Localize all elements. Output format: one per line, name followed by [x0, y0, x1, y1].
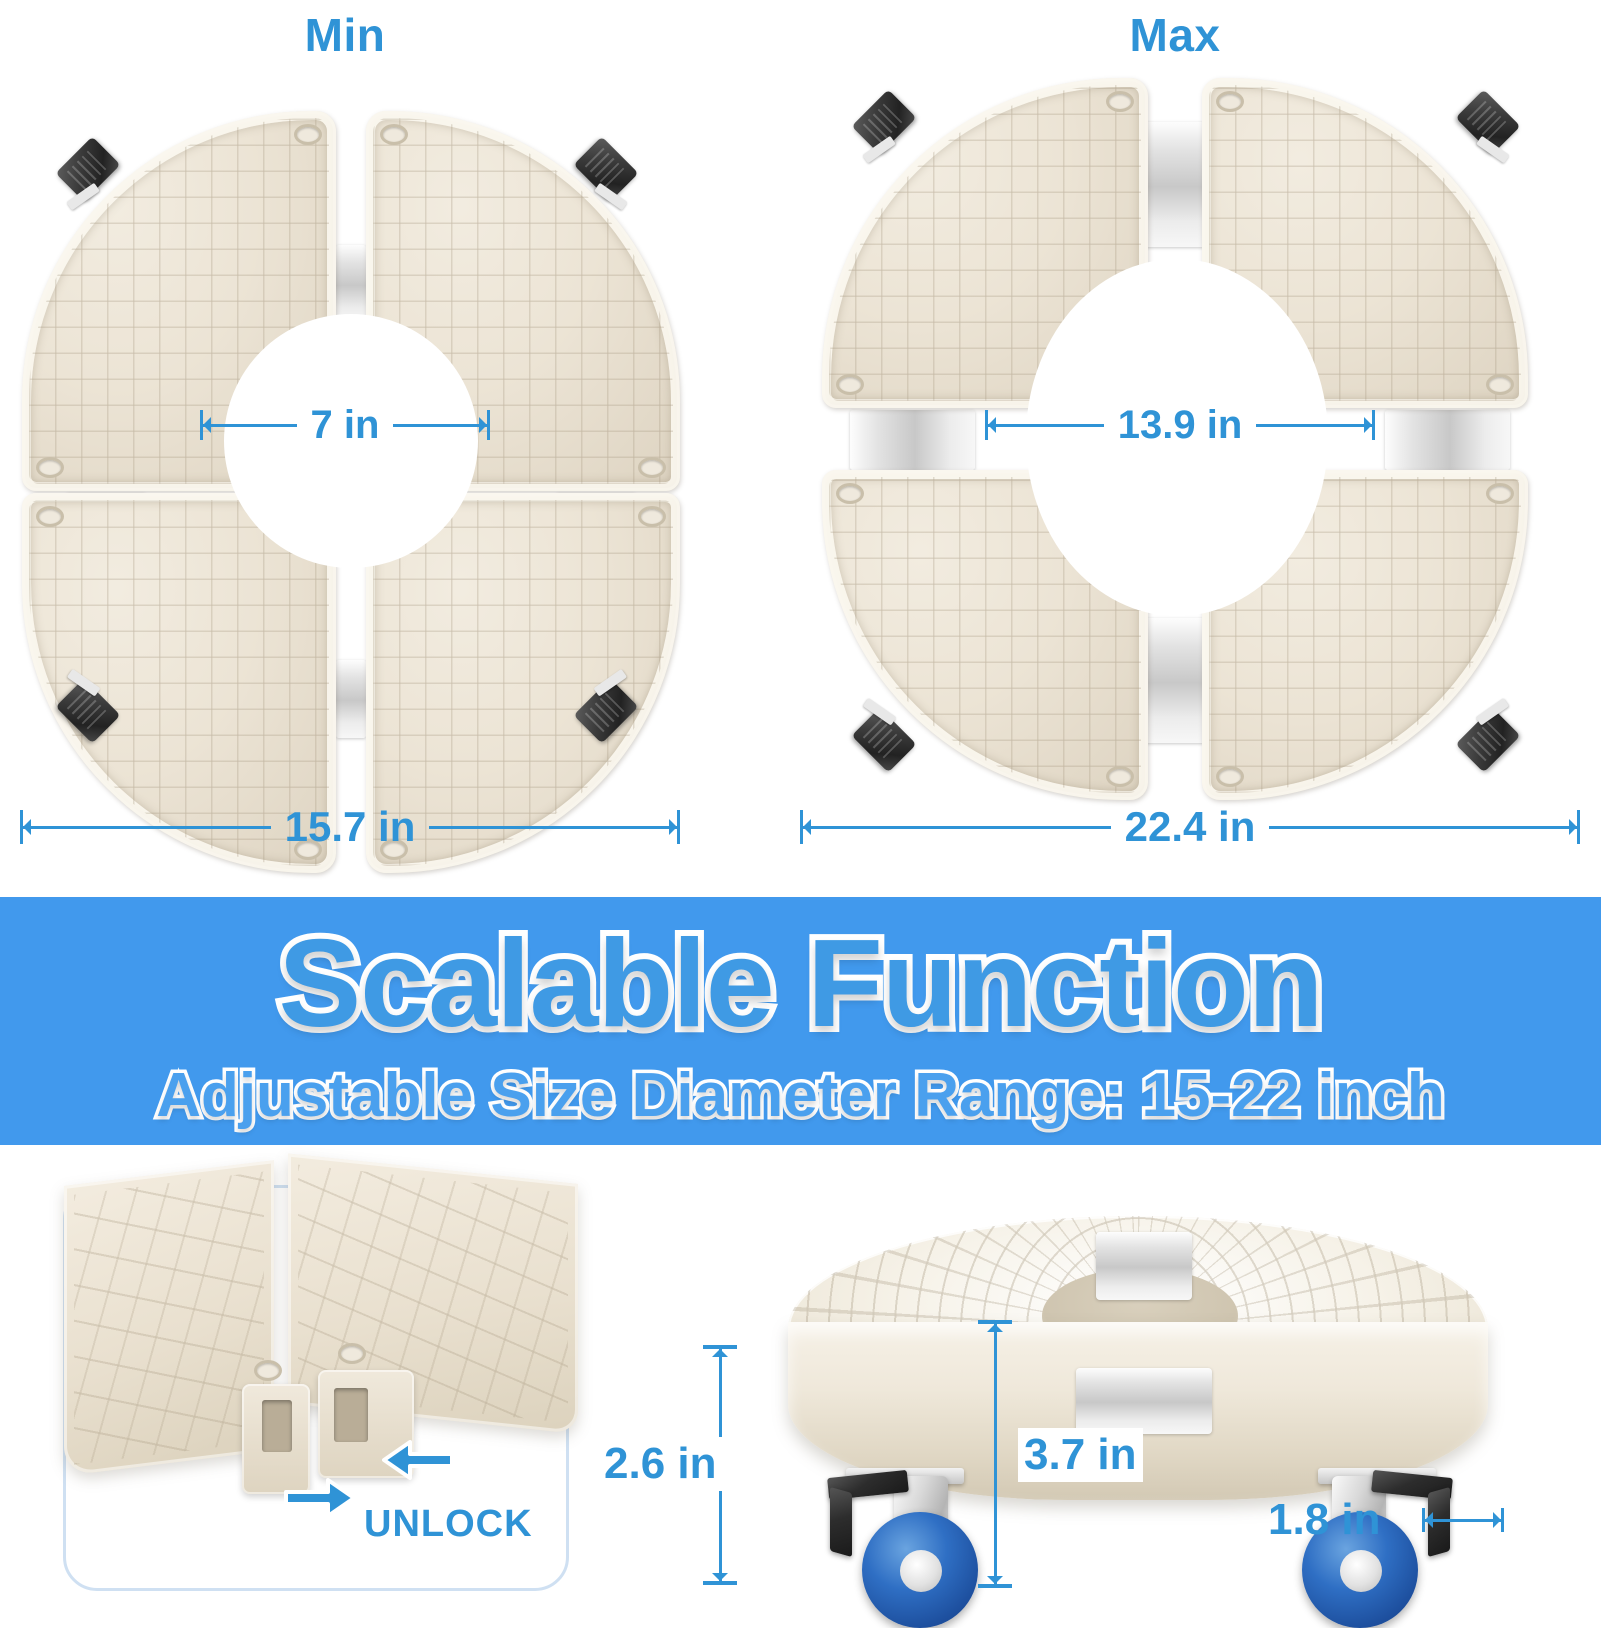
eyelet	[836, 483, 864, 504]
max-inner-dimension-label: 13.9 in	[1104, 405, 1257, 445]
eyelet	[380, 124, 408, 145]
connector-bar-lower	[1076, 1368, 1212, 1434]
eyelet	[36, 457, 64, 478]
total-height-label: 3.7 in	[1018, 1428, 1143, 1482]
deck-height-label: 2.6 in	[598, 1437, 723, 1491]
side-view-diagram	[740, 1210, 1600, 1600]
unlock-detail-panel: UNLOCK	[63, 1185, 569, 1591]
connector-bar-upper	[1096, 1232, 1192, 1300]
min-section-title: Min	[180, 8, 510, 62]
eyelet	[638, 506, 666, 527]
latch-slot-right	[334, 1388, 368, 1442]
eyelet	[36, 506, 64, 527]
eyelet	[1486, 374, 1514, 395]
eyelet	[638, 457, 666, 478]
min-outer-dimension: 15.7 in	[20, 805, 680, 849]
eyelet	[1106, 91, 1134, 112]
max-inner-dimension: 13.9 in	[985, 405, 1375, 445]
caster-brake-pedal	[1455, 89, 1520, 154]
caster-brake-pedal	[1455, 707, 1520, 772]
eyelet	[294, 124, 322, 145]
connector-bar-bottom	[336, 660, 366, 738]
connector-bar-left	[850, 410, 975, 470]
eyelet	[1216, 766, 1244, 787]
unlock-label: UNLOCK	[364, 1503, 533, 1546]
max-outer-dimension-label: 22.4 in	[1111, 806, 1270, 848]
eyelet	[338, 1343, 366, 1364]
eyelet	[1106, 766, 1134, 787]
caster-brake-pedal	[851, 707, 916, 772]
eyelet	[836, 374, 864, 395]
max-section-title: Max	[1010, 8, 1340, 62]
min-outer-dimension-label: 15.7 in	[271, 806, 430, 848]
eyelet	[254, 1360, 282, 1381]
wheel-hub	[1340, 1550, 1382, 1592]
min-inner-dimension-label: 7 in	[297, 405, 394, 445]
banner-title: Scalable Function	[0, 913, 1601, 1055]
scalable-function-banner: Scalable Function Adjustable Size Diamet…	[0, 897, 1601, 1145]
latch-slot-left	[262, 1400, 292, 1452]
wheel-hub	[900, 1550, 942, 1592]
caster-brake-pedal	[851, 89, 916, 154]
infographic-stage: Min	[0, 0, 1601, 1601]
connector-bar-right	[1385, 410, 1510, 470]
wheel-width-dimension	[1422, 1508, 1504, 1532]
arrow-left-icon	[382, 1438, 454, 1482]
eyelet	[1486, 483, 1514, 504]
arrow-right-icon	[284, 1476, 356, 1520]
connector-bar-top	[1145, 122, 1205, 247]
connector-bar-top	[336, 245, 366, 323]
eyelet	[1216, 91, 1244, 112]
brake-arm	[830, 1487, 852, 1557]
total-height-dimension	[978, 1320, 1012, 1588]
min-inner-dimension: 7 in	[200, 405, 490, 445]
banner-subtitle: Adjustable Size Diameter Range: 15-22 in…	[0, 1060, 1601, 1131]
connector-bar-bottom	[1145, 618, 1205, 743]
wheel-width-label: 1.8 in	[1268, 1495, 1381, 1545]
max-outer-dimension: 22.4 in	[800, 805, 1580, 849]
